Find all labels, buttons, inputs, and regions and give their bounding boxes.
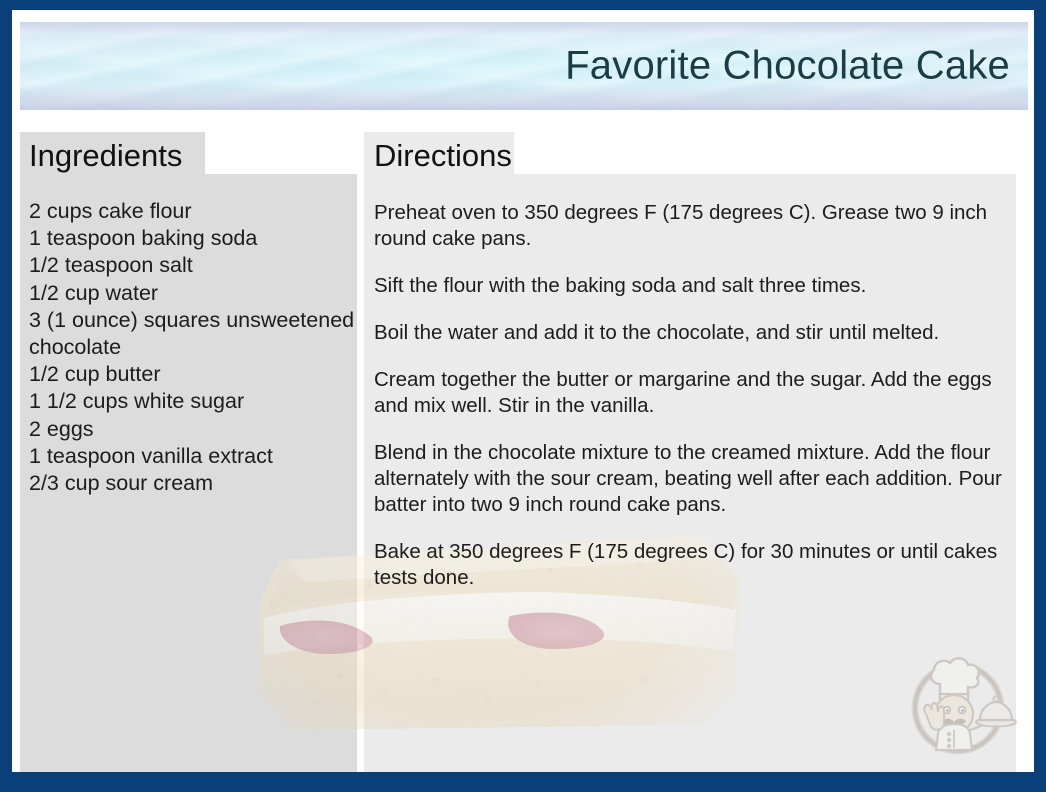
direction-step: Cream together the butter or margarine a… bbox=[374, 367, 1024, 419]
slide-canvas: Favorite Chocolate Cake Ingredients Dire… bbox=[12, 10, 1034, 772]
ingredients-list: 2 cups cake flour 1 teaspoon baking soda… bbox=[29, 198, 359, 497]
slide-frame: Favorite Chocolate Cake Ingredients Dire… bbox=[0, 0, 1046, 792]
ingredients-heading: Ingredients bbox=[29, 138, 182, 174]
direction-step: Blend in the chocolate mixture to the cr… bbox=[374, 440, 1024, 518]
list-item: 1/2 teaspoon salt bbox=[29, 252, 359, 279]
list-item: 2 cups cake flour bbox=[29, 198, 359, 225]
directions-body: Preheat oven to 350 degrees F (175 degre… bbox=[374, 200, 1024, 591]
list-item: 3 (1 ounce) squares unsweetened chocolat… bbox=[29, 307, 359, 361]
direction-step: Boil the water and add it to the chocola… bbox=[374, 320, 1024, 346]
list-item: 1/2 cup water bbox=[29, 280, 359, 307]
directions-heading: Directions bbox=[374, 138, 512, 174]
direction-step: Bake at 350 degrees F (175 degrees C) fo… bbox=[374, 539, 1024, 591]
list-item: 1/2 cup butter bbox=[29, 361, 359, 388]
header-banner: Favorite Chocolate Cake bbox=[20, 22, 1028, 110]
list-item: 2 eggs bbox=[29, 416, 359, 443]
direction-step: Preheat oven to 350 degrees F (175 degre… bbox=[374, 200, 1024, 252]
list-item: 1 teaspoon baking soda bbox=[29, 225, 359, 252]
page-title: Favorite Chocolate Cake bbox=[565, 44, 1010, 89]
direction-step: Sift the flour with the baking soda and … bbox=[374, 273, 1024, 299]
list-item: 1 1/2 cups white sugar bbox=[29, 388, 359, 415]
list-item: 2/3 cup sour cream bbox=[29, 470, 359, 497]
list-item: 1 teaspoon vanilla extract bbox=[29, 443, 359, 470]
